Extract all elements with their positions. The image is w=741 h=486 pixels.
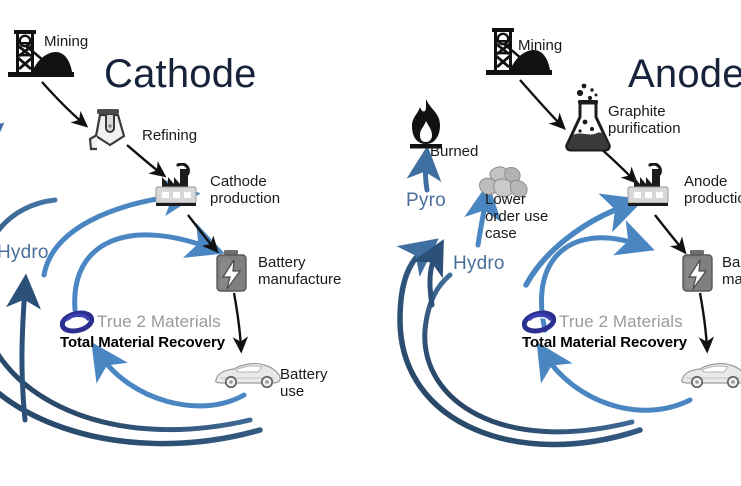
anode-title: Anode — [628, 52, 741, 97]
cathode-mining-label: Mining — [44, 34, 88, 51]
anode-mining-label: Mining — [518, 38, 562, 55]
anode-pyro-label: Pyro — [406, 190, 446, 212]
arrow-anode-production-to-battery-manufacture — [655, 215, 683, 250]
cathode-battery-manufacture-label: Battery manufacture — [258, 255, 341, 289]
anode-production-label: Anode productio — [684, 174, 741, 208]
true2materials-brand-text: True 2 Materials — [97, 312, 221, 332]
anode-burned-label: Burned — [430, 144, 478, 161]
battery-icon — [678, 248, 718, 301]
refining-ladle-icon — [84, 106, 132, 159]
battery-icon — [212, 248, 252, 301]
arrow-anode-battery-manufacture-to-battery-use — [700, 293, 707, 348]
true2materials-tagline: Total Material Recovery — [60, 334, 225, 351]
arrow-cathode-production-to-battery-manufacture — [188, 215, 215, 249]
factory-icon — [148, 163, 206, 216]
anode-lower-order-use-label: Lower order use case — [485, 192, 548, 242]
cathode-production-label: Cathode production — [210, 174, 280, 208]
diagram-canvas: Mining Cathode Refining Cathode producti… — [0, 0, 741, 486]
arrow-mining-to-refining — [42, 82, 84, 124]
true2materials-ring-icon — [60, 309, 94, 335]
true2materials-ring-icon — [522, 309, 556, 335]
true2materials-brand-text: True 2 Materials — [559, 312, 683, 332]
cathode-refining-label: Refining — [142, 128, 197, 145]
anode-battery-manufacture-label: Ba manu — [722, 255, 741, 289]
cathode-battery-use-label: Battery use — [280, 367, 328, 401]
car-icon — [678, 358, 741, 395]
car-icon — [212, 358, 284, 395]
factory-icon — [620, 163, 678, 216]
true2materials-logo: True 2 Materials Total Material Recovery — [522, 309, 687, 351]
true2materials-logo: True 2 Materials Total Material Recovery — [60, 309, 225, 351]
arrow-battery-manufacture-to-battery-use — [234, 293, 241, 348]
anode-graphite-purification-label: Graphite purification — [608, 104, 681, 138]
anode-hydro-label: Hydro — [453, 253, 505, 275]
true2materials-tagline: Total Material Recovery — [522, 334, 687, 351]
cathode-title: Cathode — [104, 52, 257, 97]
cathode-hydro-label: Hydro — [0, 242, 49, 264]
arrow-mining-to-graphite-purification — [520, 80, 562, 126]
